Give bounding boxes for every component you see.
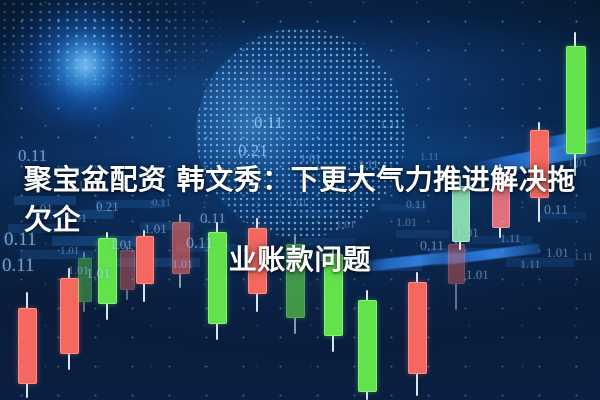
headline-line-1: 聚宝盆配资 韩文秀：下更大气力推进解决拖欠企 — [24, 160, 576, 240]
floating-number: 0.11 — [254, 114, 283, 131]
candle-body — [358, 300, 377, 392]
blue-light-flare-icon — [0, 0, 170, 130]
candlestick-up — [566, 32, 584, 176]
headline-line-2: 业账款问题 — [24, 240, 576, 280]
page-title: 聚宝盆配资 韩文秀：下更大气力推进解决拖欠企 业账款问题 — [0, 160, 600, 280]
candlestick-up — [358, 290, 375, 400]
candlestick-down — [60, 268, 77, 370]
candle-body — [60, 278, 79, 354]
candlestick-down — [18, 292, 35, 398]
floating-number: 1.11 — [380, 118, 401, 130]
candle-body — [566, 46, 586, 154]
hero-banner: 0.110.110.111.011.011.011.011.011.011.11… — [0, 0, 600, 400]
candle-body — [18, 308, 37, 384]
candle-body — [408, 282, 427, 374]
candlestick-down — [408, 272, 425, 396]
floating-number: 0.21 — [238, 142, 268, 159]
